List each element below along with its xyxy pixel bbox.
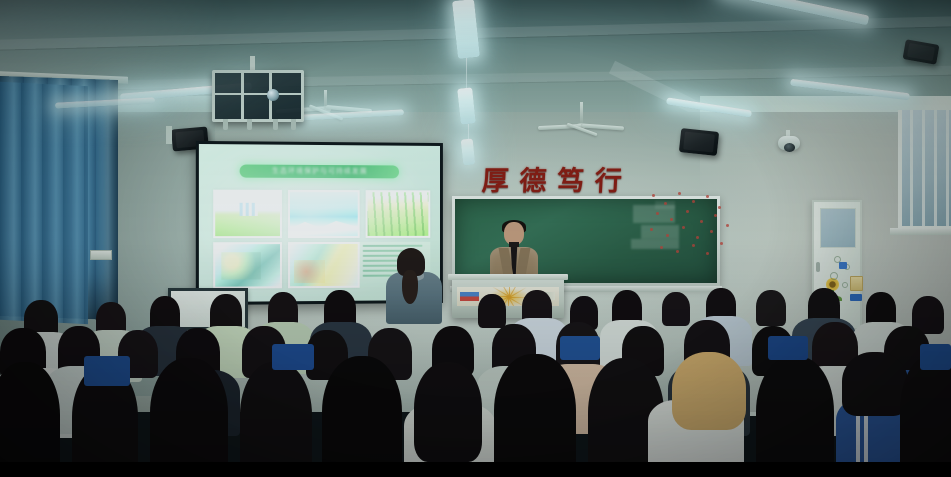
audience-head	[494, 354, 576, 477]
chair-back	[920, 344, 951, 370]
chair-back	[272, 344, 314, 370]
slide-title-text: 生态环境保护与可持续发展	[240, 164, 399, 178]
bubble-decal-icon	[830, 272, 838, 280]
barred-window	[898, 110, 951, 230]
speaker-bracket	[166, 126, 172, 144]
light-wire	[466, 58, 467, 88]
slide-photo-cell	[288, 242, 360, 288]
podium-top	[448, 274, 568, 280]
bubble-decal-icon	[842, 282, 848, 288]
audience-head-blonde	[672, 352, 746, 430]
audience-head	[240, 362, 312, 477]
photo-wildlife-collage	[290, 244, 358, 286]
wall-outlet-box	[90, 250, 112, 260]
chair-back	[768, 336, 808, 360]
slide-title-banner: 生态环境保护与可持续发展	[240, 164, 399, 178]
audience-head	[756, 356, 834, 477]
standing-student-ponytail	[402, 270, 418, 304]
standing-student	[386, 248, 442, 322]
slide-photo-cell	[366, 190, 431, 238]
audience-head	[900, 356, 951, 477]
classroom-room: 生态环境保护与可持续发展	[0, 0, 951, 477]
photo-ocean-coastline	[290, 192, 358, 236]
classroom-scene: 生态环境保护与可持续发展	[0, 0, 951, 477]
fluorescent-light	[461, 138, 476, 165]
audience-head	[322, 356, 402, 477]
calligraphy-char-2: 德	[519, 159, 548, 198]
photo-city-field	[215, 192, 280, 236]
banner-accent-left	[460, 292, 479, 301]
slide-photo-cell	[213, 242, 282, 289]
chair-back	[84, 356, 130, 386]
wall-calligraphy: 厚 德 笃 行	[481, 160, 623, 196]
audience-head	[478, 294, 506, 328]
slide-photo-cell	[288, 190, 360, 238]
door-notice-sign	[850, 294, 862, 301]
calligraphy-char-1: 厚	[481, 159, 510, 198]
audience-head	[842, 352, 908, 416]
door-notice-blue	[839, 262, 847, 269]
projector-cage-icon	[212, 70, 304, 122]
window-sill	[890, 228, 951, 235]
photo-nature-collage	[215, 244, 280, 287]
slide-photo-cell	[213, 190, 282, 239]
photo-bamboo-forest	[368, 192, 429, 236]
projector-lens-icon	[267, 89, 279, 101]
letterbox-bar-bottom	[0, 462, 951, 477]
light-wire	[468, 124, 469, 139]
door-handle[interactable]	[816, 262, 820, 272]
door-window	[820, 208, 856, 248]
calligraphy-char-4: 行	[594, 159, 623, 198]
audience-head	[756, 290, 786, 326]
wall-speaker-icon	[679, 128, 719, 156]
camera-lens-icon	[784, 143, 795, 152]
door-notice-yellow	[850, 276, 863, 291]
audience-head	[414, 362, 482, 462]
audience-head	[0, 362, 60, 477]
audience-head	[150, 358, 228, 477]
window-curtain-fold	[0, 82, 88, 325]
calligraphy-char-3: 笃	[556, 159, 585, 198]
audience-head	[662, 292, 690, 326]
wall-dot-decals	[648, 192, 732, 256]
chair-back	[560, 336, 600, 360]
